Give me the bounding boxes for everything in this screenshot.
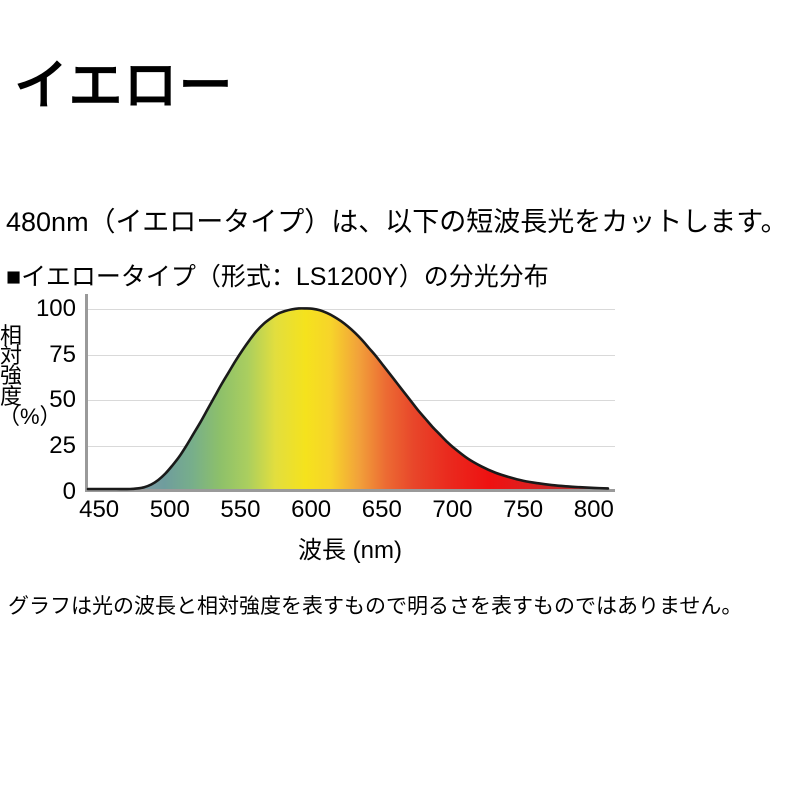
x-axis-tick-label: 450 xyxy=(79,498,119,522)
x-axis-tick-label: 550 xyxy=(220,498,260,522)
spectrum-area-fill xyxy=(88,308,608,489)
spectrum-curve-svg xyxy=(88,294,615,489)
y-axis-tick-label: 50 xyxy=(49,388,76,412)
x-axis-tick-label: 800 xyxy=(574,498,614,522)
x-axis-tick-label: 700 xyxy=(432,498,472,522)
x-axis-tick-label: 650 xyxy=(362,498,402,522)
chart-footnote: グラフは光の波長と相対強度を表すもので明るさを表すものではありません。 xyxy=(8,595,742,619)
plot-area xyxy=(85,294,615,492)
x-axis-tick-label: 750 xyxy=(503,498,543,522)
x-axis-title: 波長 (nm) xyxy=(85,530,615,565)
y-axis-tick-labels: 0255075100 xyxy=(20,280,80,500)
x-axis-tick-labels: 450500550600650700750800 xyxy=(0,498,660,532)
page-root: イエロー 480nm（イエロータイプ）は、以下の短波長光をカットします。 ■イエ… xyxy=(0,0,800,800)
y-axis-tick-label: 25 xyxy=(49,434,76,458)
x-axis-tick-label: 600 xyxy=(291,498,331,522)
y-axis-tick-label: 100 xyxy=(36,297,76,321)
intro-description: 480nm（イエロータイプ）は、以下の短波長光をカットします。 xyxy=(6,207,788,238)
page-title: イエロー xyxy=(14,58,233,115)
spectral-distribution-chart: 相対強度（%） 0255075100 450500550600650700750… xyxy=(0,280,660,570)
y-axis-tick-label: 75 xyxy=(49,343,76,367)
x-axis-tick-label: 500 xyxy=(150,498,190,522)
